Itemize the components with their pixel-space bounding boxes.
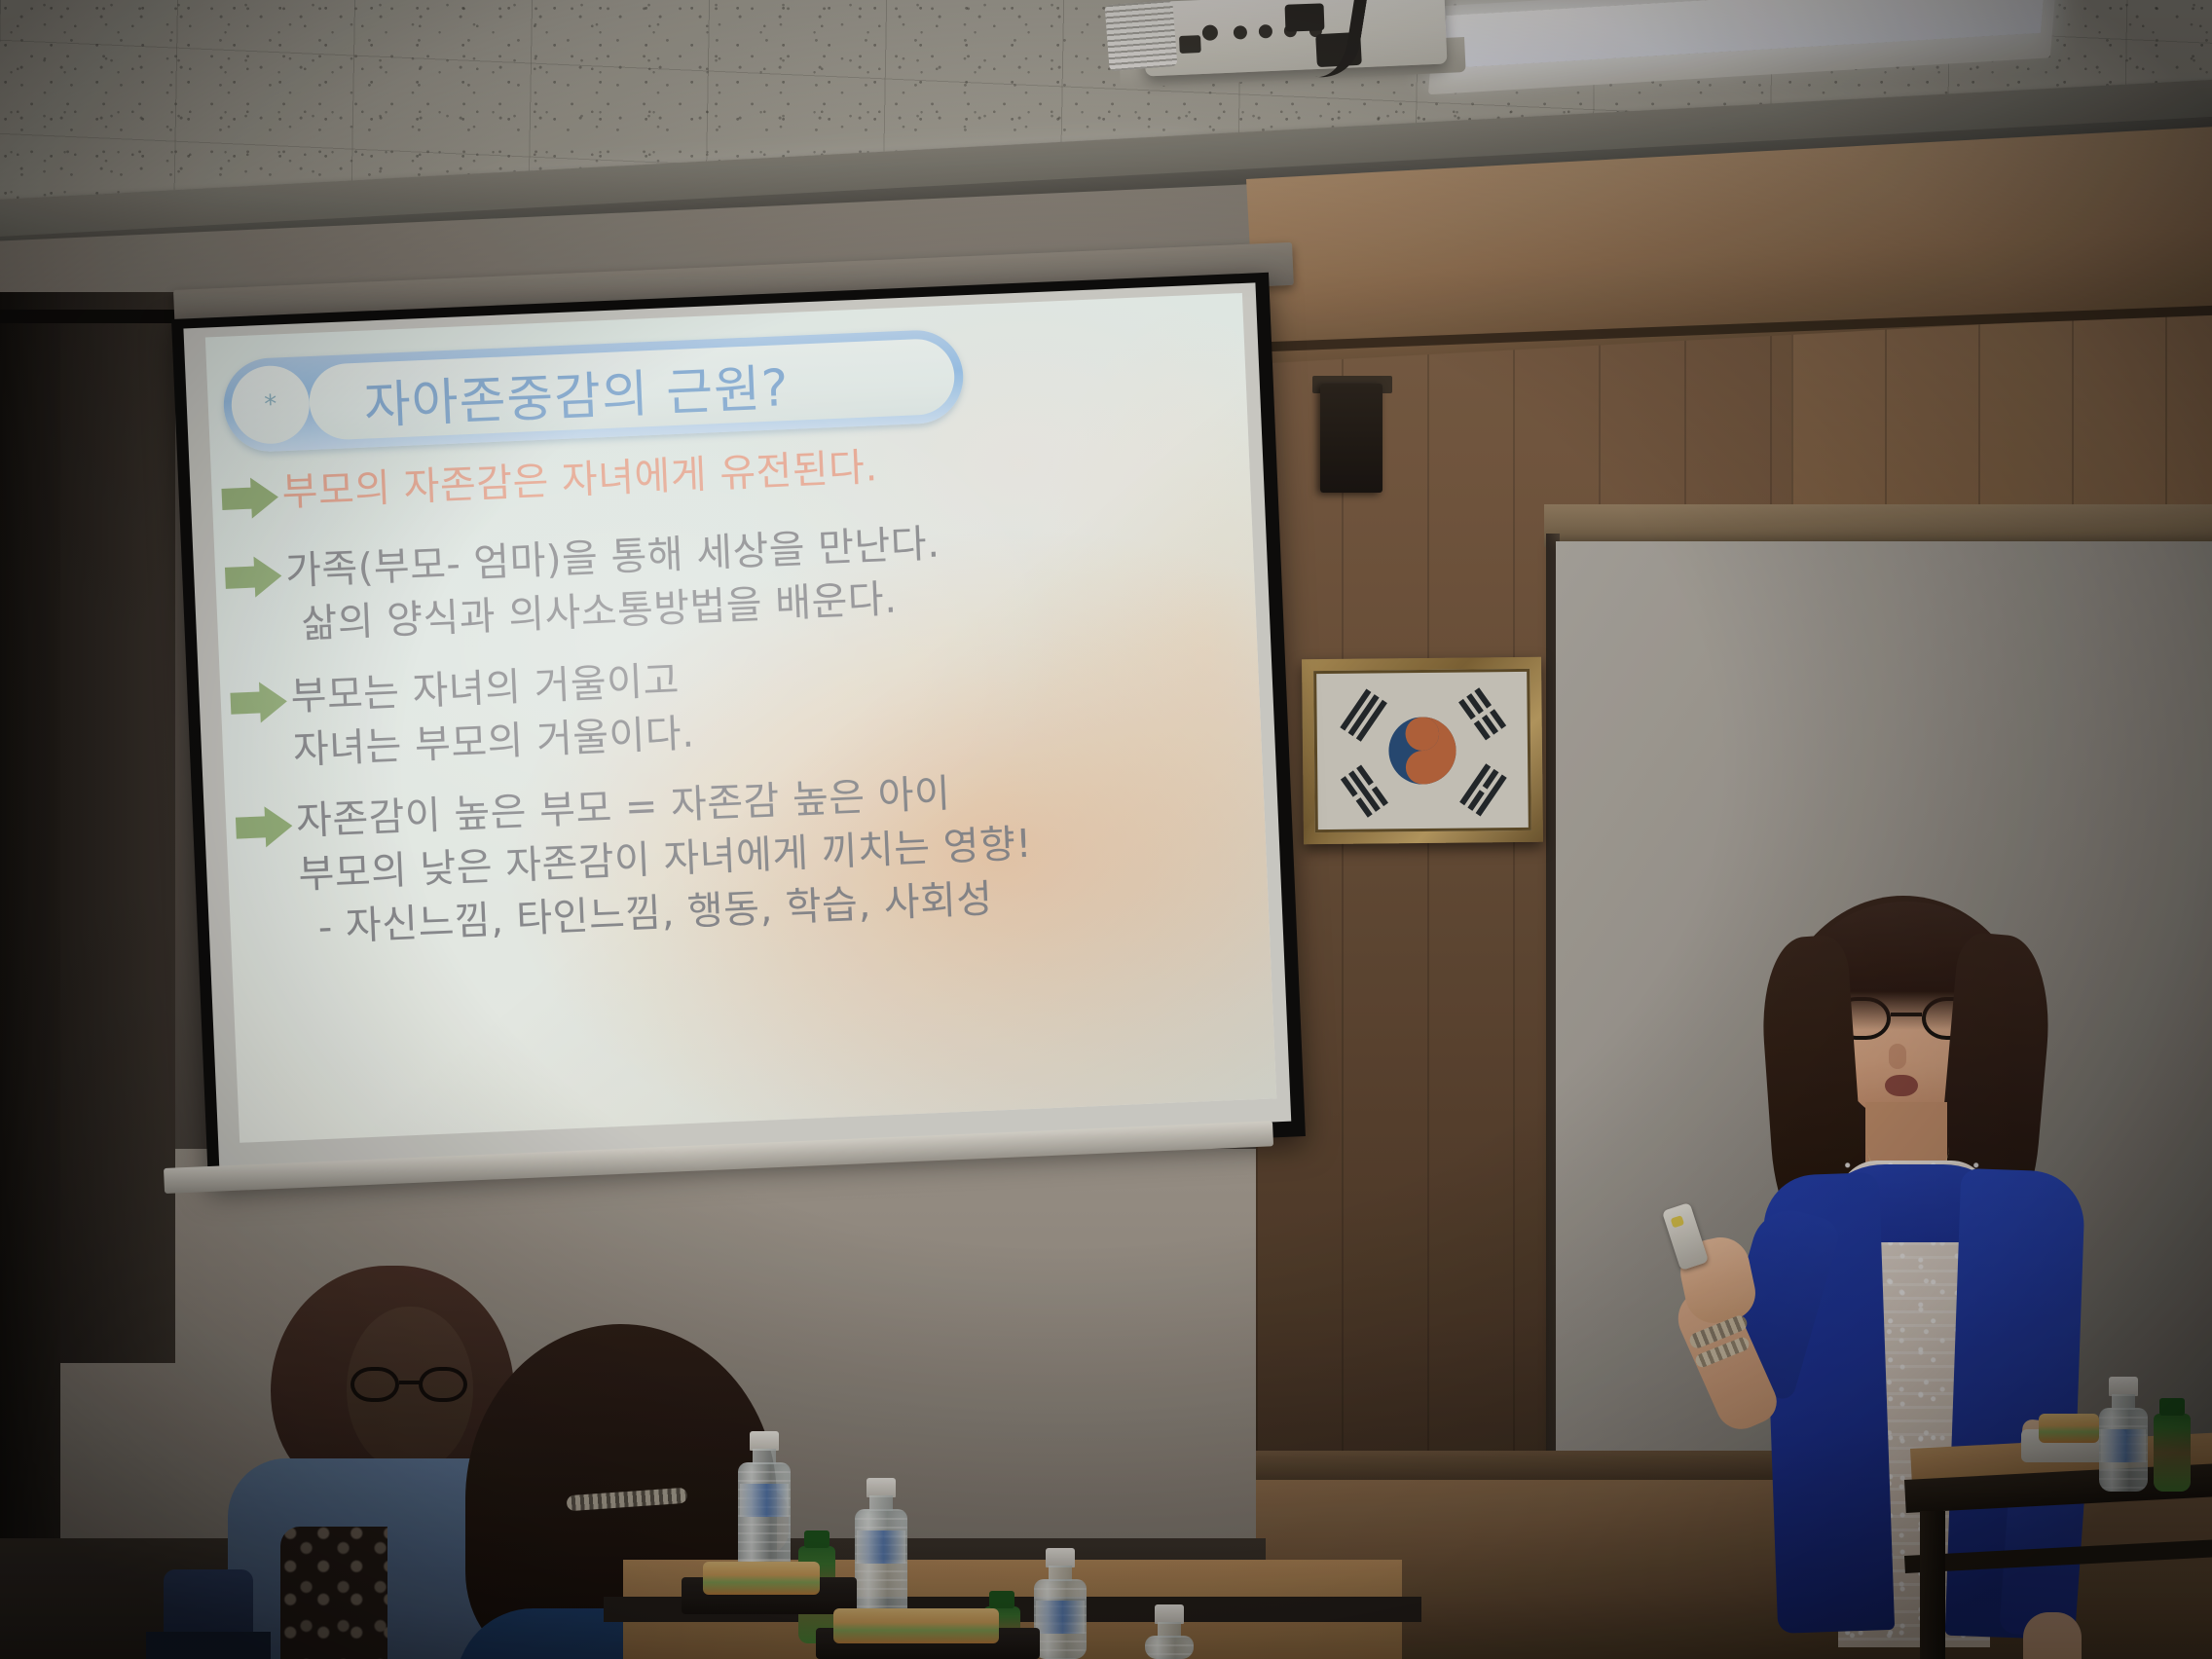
fluorescent-tube-secondary bbox=[1442, 0, 2045, 68]
water-bottle bbox=[1145, 1604, 1194, 1659]
bullet-item: 가족(부모- 엄마)을 통해 세상을 만난다. 삶의 양식과 의사소통방법을 배… bbox=[214, 504, 1256, 656]
presenter-nose bbox=[1889, 1044, 1906, 1069]
bottle-label bbox=[740, 1484, 789, 1517]
green-bottle bbox=[2154, 1414, 2191, 1492]
presenter-right-hand bbox=[2023, 1612, 2082, 1659]
slide-bullets: 부모의 자존감은 자녀에게 유전된다. 가족(부모- 엄마)을 통해 세상을 만… bbox=[211, 425, 1270, 960]
slide-title-pill: 자아존중감의 근원? * bbox=[222, 328, 965, 453]
audience-lace-sleeve bbox=[280, 1527, 387, 1659]
bottle-cap bbox=[1046, 1548, 1075, 1567]
flag-canvas bbox=[1313, 669, 1531, 832]
bottle-cap bbox=[2109, 1377, 2138, 1396]
bullet-line: 부모의 자존감은 자녀에게 유전된다. bbox=[281, 441, 879, 520]
projector-port bbox=[1202, 24, 1219, 41]
arrow-bullet-icon bbox=[225, 555, 287, 597]
bullet-lines: 자존감이 높은 부모 = 자존감 높은 아이 부모의 낮은 자존감이 자녀에게 … bbox=[295, 764, 1035, 957]
bottle-label bbox=[857, 1530, 905, 1564]
bottle-cap bbox=[1155, 1604, 1184, 1624]
bullet-lines: 부모는 자녀의 거울이고 자녀는 부모의 거울이다. bbox=[290, 653, 696, 778]
taeguk-icon bbox=[1387, 716, 1458, 787]
projector-vent bbox=[1104, 0, 1177, 71]
chair-seat bbox=[146, 1632, 271, 1659]
projector-port bbox=[1259, 24, 1273, 39]
audience-glasses bbox=[350, 1367, 467, 1402]
trigram-gam bbox=[1341, 765, 1388, 818]
bullet-item: 부모는 자녀의 거울이고 자녀는 부모의 거울이다. bbox=[220, 629, 1262, 781]
presenter bbox=[1714, 896, 2122, 1659]
arrow-bullet-icon bbox=[236, 805, 298, 847]
presenter-mouth bbox=[1885, 1075, 1918, 1096]
bullet-item: 자존감이 높은 부모 = 자존감 높은 아이 부모의 낮은 자존감이 자녀에게 … bbox=[225, 754, 1269, 959]
glasses-lens-right bbox=[419, 1367, 467, 1402]
screen-surface: 자아존중감의 근원? * 부모의 자존감은 자녀에게 유전된다. bbox=[183, 282, 1291, 1166]
title-star-icon: * bbox=[230, 364, 311, 445]
presentation-slide: 자아존중감의 근원? * 부모의 자존감은 자녀에게 유전된다. bbox=[205, 293, 1276, 1143]
slide-title: 자아존중감의 근원? bbox=[362, 346, 791, 437]
arrow-bullet-icon bbox=[230, 681, 292, 722]
title-star-glyph: * bbox=[264, 389, 277, 420]
projector-port bbox=[1234, 25, 1248, 40]
arrow-bullet-icon bbox=[221, 476, 283, 518]
framed-korean-flag bbox=[1302, 657, 1543, 845]
sandwich bbox=[2039, 1414, 2099, 1443]
clicker-button[interactable] bbox=[1671, 1215, 1685, 1228]
trigram-gon bbox=[1458, 687, 1506, 740]
bullet-lines: 가족(부모- 엄마)을 통해 세상을 만난다. 삶의 양식과 의사소통방법을 배… bbox=[284, 518, 943, 653]
trigram-ri bbox=[1459, 763, 1507, 816]
water-bottle bbox=[2099, 1377, 2148, 1492]
sandwich bbox=[833, 1608, 999, 1643]
bottle-cap bbox=[750, 1431, 779, 1451]
bottle-body bbox=[1145, 1636, 1194, 1659]
projection-screen: 자아존중감의 근원? * 부모의 자존감은 자녀에게 유전된다. bbox=[171, 273, 1306, 1183]
wall-left-edge bbox=[0, 292, 60, 1659]
bottle-label bbox=[2101, 1429, 2146, 1462]
projector-lan-port bbox=[1179, 35, 1201, 54]
wall-trim-strip bbox=[0, 310, 175, 323]
bottle-cap bbox=[866, 1478, 896, 1497]
sandwich bbox=[703, 1562, 820, 1595]
water-bottle bbox=[1034, 1548, 1087, 1659]
bottle-label bbox=[1036, 1601, 1085, 1634]
side-table-leg bbox=[1920, 1511, 1945, 1659]
glasses-bridge bbox=[399, 1381, 423, 1384]
glasses-lens-left bbox=[350, 1367, 399, 1402]
wall-speaker bbox=[1320, 384, 1382, 493]
bullet-lines: 부모의 자존감은 자녀에게 유전된다. bbox=[281, 441, 879, 520]
trigram-geon bbox=[1340, 688, 1387, 741]
slide-title-inner: 자아존중감의 근원? bbox=[308, 338, 956, 441]
water-bottle bbox=[855, 1478, 907, 1626]
lecture-room-photo: 자아존중감의 근원? * 부모의 자존감은 자녀에게 유전된다. bbox=[0, 0, 2212, 1659]
